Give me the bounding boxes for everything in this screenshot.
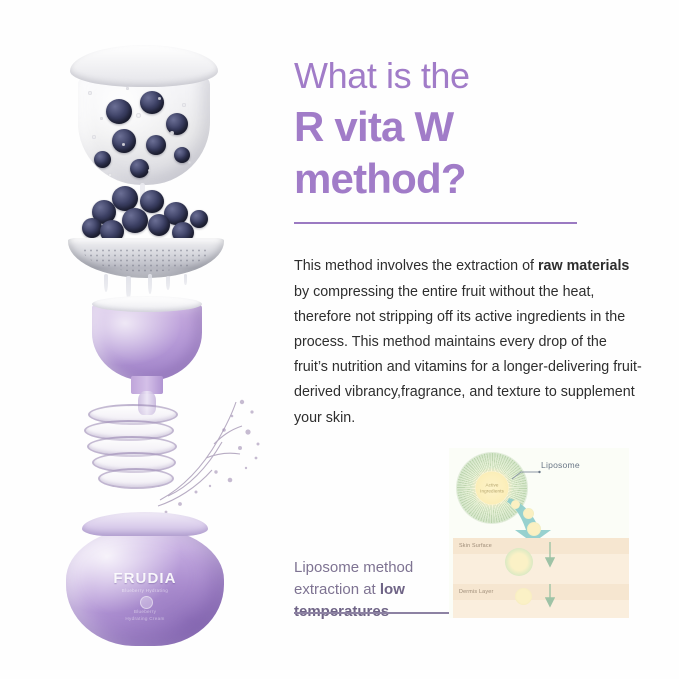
skin-layers-block: Skin Surface Dermis Layer [453,538,629,618]
blueberry [82,218,102,238]
liposome-droplet [523,508,534,519]
jar-subtitle-label: Blueberry Hydrating [66,588,224,593]
blueberry [140,91,164,114]
downward-arrow-icon [545,584,555,608]
absorbed-liposome [505,548,533,576]
active-ingredients-label: Active Ingredients [480,482,504,494]
strainer-drip [104,274,108,292]
blueberry [146,135,166,155]
process-illustration-column: FRUDIA Blueberry Hydrating Blueberry Hyd… [0,0,285,679]
colander-with-blueberries [60,186,232,296]
body-text-bold-1: raw materials [538,258,629,274]
liposome-callout-label: Liposome [541,460,580,470]
glass-bowl-with-blueberries [62,45,227,195]
bowl-body [78,73,210,185]
liposome-droplet [511,500,520,509]
heading-line-2: R vita W [294,106,453,148]
strainer-drip [148,274,152,294]
absorbed-liposome-dermis [515,588,532,605]
infographic-page: FRUDIA Blueberry Hydrating Blueberry Hyd… [0,0,679,679]
heading-divider [294,222,577,224]
jar-variant-label: Blueberry Hydrating Cream [66,608,224,622]
coil-loop [98,468,174,489]
strainer-drip [184,274,187,285]
blueberry [106,99,132,124]
liposome-leader-line-icon [511,470,541,480]
downward-arrow-icon [545,542,555,568]
blueberry [112,129,136,153]
blueberry [190,210,208,228]
jar-lid [82,512,208,536]
purple-funnel-glass [74,296,219,416]
heading-line-1: What is the [294,58,470,94]
funnel-cup [92,303,202,381]
heading-line-3: method? [294,158,466,200]
funnel-rim [92,296,202,312]
blueberry [140,190,164,213]
frudia-cream-jar: FRUDIA Blueberry Hydrating Blueberry Hyd… [60,512,230,647]
body-text-part-1: This method involves the extraction of [294,258,538,274]
jar-brand-label: FRUDIA [66,570,224,587]
bowl-rim [70,45,218,87]
liposome-diagram: Active Ingredients Liposome Skin Surface… [449,448,629,618]
body-paragraph: This method involves the extraction of r… [294,254,642,430]
blueberry [148,214,170,236]
blueberry [94,151,111,168]
liposome-core: Active Ingredients [476,472,509,505]
blueberry [130,159,149,178]
strainer-drip [166,276,170,290]
blueberry [122,208,148,233]
skin-surface-label: Skin Surface [459,543,492,549]
caption-divider [294,612,452,614]
dermis-layer-label: Dermis Layer [459,589,493,595]
body-text-part-2: by compressing the entire fruit without … [294,284,642,426]
liposome-droplet [527,522,541,536]
jar-body: FRUDIA Blueberry Hydrating Blueberry Hyd… [66,528,224,646]
